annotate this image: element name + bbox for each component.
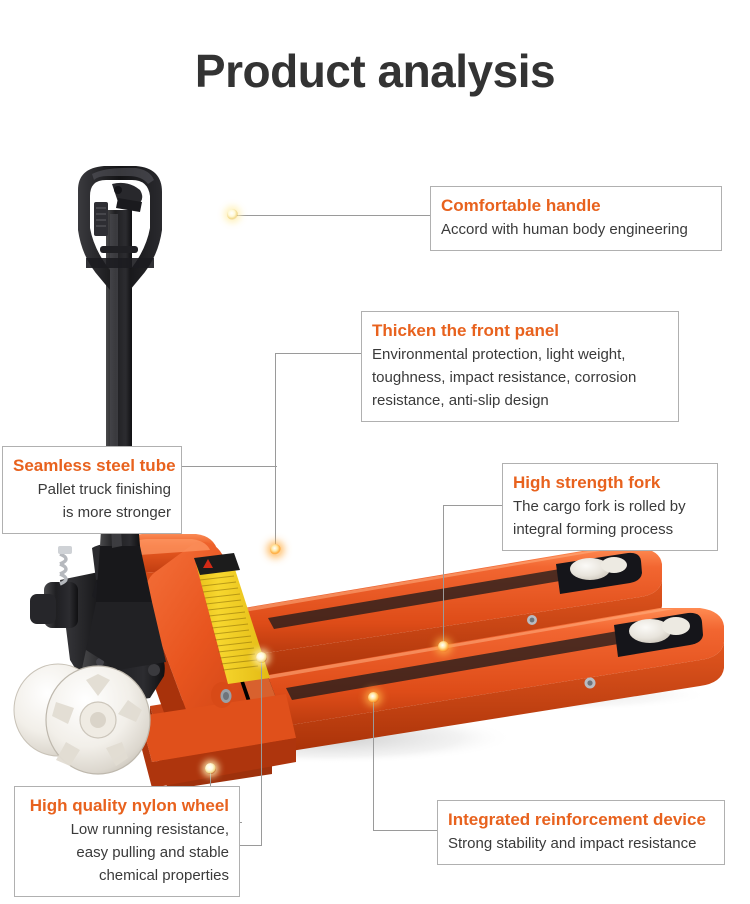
connector-high-strength-fork-vertical: [443, 505, 444, 647]
callout-title: High strength fork: [513, 471, 707, 495]
anchor-dot-nylon-wheel-rim: [205, 763, 216, 774]
connector-nylon-wheel-vertical-a: [261, 657, 262, 845]
callout-title: Thicken the front panel: [372, 319, 668, 343]
callout-line: easy pulling and stable: [25, 841, 229, 864]
callout-title: Integrated reinforcement device: [448, 808, 714, 832]
callout-line: Environmental protection, light weight,: [372, 343, 668, 366]
callout-line: Low running resistance,: [25, 818, 229, 841]
reinforcement-bolt: [211, 682, 233, 708]
connector-reinforcement-horizontal: [373, 830, 439, 831]
callout-high-quality-nylon-wheel[interactable]: High quality nylon wheel Low running res…: [14, 786, 240, 897]
callout-line: Strong stability and impact resistance: [448, 832, 714, 855]
callout-line: is more stronger: [13, 501, 171, 524]
connector-seamless-steel-tube: [181, 466, 277, 467]
callout-comfortable-handle[interactable]: Comfortable handle Accord with human bod…: [430, 186, 722, 251]
handle-loop: [78, 166, 162, 450]
anchor-dot-nylon-wheel-hub: [256, 652, 267, 663]
callout-integrated-reinforcement-device[interactable]: Integrated reinforcement device Strong s…: [437, 800, 725, 865]
callout-title: High quality nylon wheel: [25, 794, 229, 818]
callout-thicken-front-panel[interactable]: Thicken the front panel Environmental pr…: [361, 311, 679, 422]
callout-line: Accord with human body engineering: [441, 218, 711, 241]
callout-line: resistance, anti-slip design: [372, 389, 668, 412]
connector-thicken-front-panel-vertical: [275, 353, 276, 551]
callout-line: integral forming process: [513, 518, 707, 541]
callout-line: Pallet truck finishing: [13, 478, 171, 501]
anchor-dot-thicken-front-panel: [270, 544, 281, 555]
page-title: Product analysis: [0, 44, 750, 98]
callout-title: Seamless steel tube: [13, 454, 171, 478]
anchor-dot-comfortable-handle: [227, 209, 238, 220]
connector-reinforcement-vertical: [373, 697, 374, 830]
connector-comfortable-handle: [236, 215, 432, 216]
connector-thicken-front-panel-horizontal: [275, 353, 363, 354]
callout-seamless-steel-tube[interactable]: Seamless steel tube Pallet truck finishi…: [2, 446, 182, 534]
infographic-canvas: Product analysis: [0, 0, 750, 904]
connector-high-strength-fork-horizontal: [443, 505, 503, 506]
connector-nylon-wheel-horizontal-a: [240, 845, 262, 846]
callout-title: Comfortable handle: [441, 194, 711, 218]
callout-line: toughness, impact resistance, corrosion: [372, 366, 668, 389]
steer-wheels: [14, 664, 150, 774]
anchor-dot-high-strength-fork: [438, 641, 449, 652]
callout-high-strength-fork[interactable]: High strength fork The cargo fork is rol…: [502, 463, 718, 551]
anchor-dot-reinforcement-device: [368, 692, 379, 703]
callout-line: chemical properties: [25, 864, 229, 887]
callout-line: The cargo fork is rolled by: [513, 495, 707, 518]
